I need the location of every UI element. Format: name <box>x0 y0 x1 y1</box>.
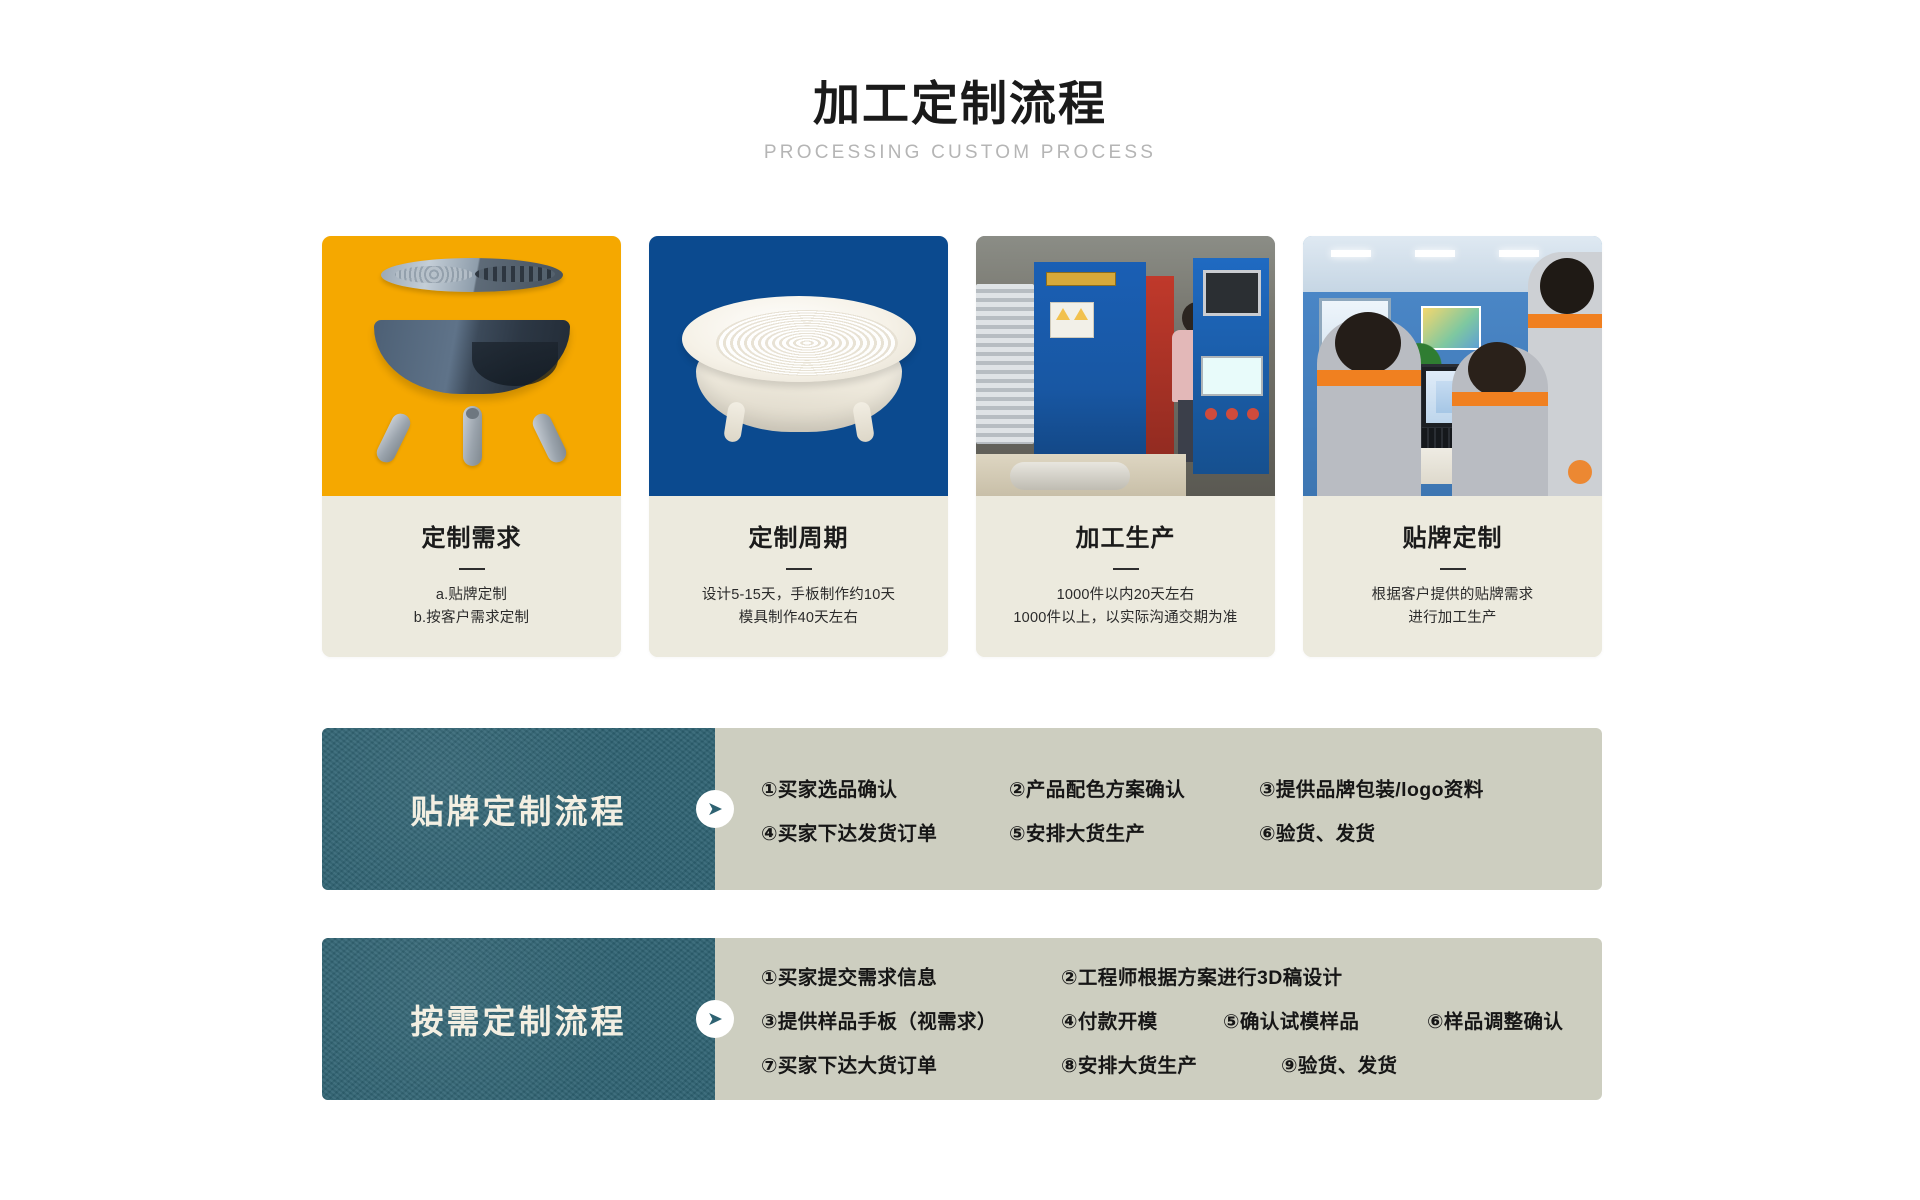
process-page: 加工定制流程 PROCESSING CUSTOM PROCESS 定制需求 a.… <box>0 0 1920 1200</box>
seated-designer-left <box>1317 318 1421 496</box>
oem-flow-header[interactable]: 贴牌定制流程 ➤ <box>322 728 715 890</box>
flow-step: ⑥验货、发货 <box>1259 817 1375 846</box>
process-card-3-desc-line1: 1000件以内20天左右 <box>986 584 1265 607</box>
ceiling-light <box>1415 250 1455 257</box>
page-header: 加工定制流程 PROCESSING CUSTOM PROCESS <box>0 78 1920 164</box>
design-office-team-photo <box>1303 236 1602 496</box>
page-subtitle: PROCESSING CUSTOM PROCESS <box>0 142 1920 164</box>
flow-step: ①买家选品确认 <box>761 773 1009 802</box>
flow-step: ⑤安排大货生产 <box>1009 817 1259 846</box>
divider-rule <box>1113 568 1139 570</box>
ondemand-flow-steps: ①买家提交需求信息 ②工程师根据方案进行3D稿设计 ③提供样品手板（视需求） ④… <box>715 938 1602 1100</box>
step-row: ③提供样品手板（视需求） ④付款开模 ⑤确认试模样品 ⑥样品调整确认 <box>761 997 1602 1041</box>
designer-collar <box>1452 392 1548 406</box>
product-bowl-part <box>374 320 570 394</box>
oem-flow-steps: ①买家选品确认 ②产品配色方案确认 ③提供品牌包装/logo资料 ④买家下达发货… <box>715 728 1602 890</box>
process-card-3[interactable]: 加工生产 1000件以内20天左右 1000件以上，以实际沟通交期为准 <box>976 236 1275 657</box>
flow-step: ②产品配色方案确认 <box>1009 773 1259 802</box>
flow-step: ⑥样品调整确认 <box>1427 1005 1563 1034</box>
machine-brand-label <box>1046 272 1116 286</box>
seated-designer-right <box>1452 346 1548 496</box>
process-card-4-desc-line2: 进行加工生产 <box>1313 607 1592 630</box>
process-card-2[interactable]: 定制周期 设计5-15天，手板制作约10天 模具制作40天左右 <box>649 236 948 657</box>
step-row: ④买家下达发货订单 ⑤安排大货生产 ⑥验货、发货 <box>761 809 1602 853</box>
process-card-1[interactable]: 定制需求 a.贴牌定制 b.按客户需求定制 <box>322 236 621 657</box>
process-card-4-body: 贴牌定制 根据客户提供的贴牌需求 进行加工生产 <box>1303 496 1602 657</box>
control-buttons <box>1205 408 1259 422</box>
prototype-object <box>674 290 924 440</box>
flow-step: ①买家提交需求信息 <box>761 961 1061 990</box>
divider-rule <box>1440 568 1466 570</box>
designer-collar <box>1317 370 1421 386</box>
step-row: ①买家选品确认 ②产品配色方案确认 ③提供品牌包装/logo资料 <box>761 765 1602 809</box>
ondemand-flow-header[interactable]: 按需定制流程 ➤ <box>322 938 715 1100</box>
process-card-4-title: 贴牌定制 <box>1313 518 1592 553</box>
process-card-3-title: 加工生产 <box>986 518 1265 553</box>
injection-machine <box>1034 262 1146 474</box>
molded-part <box>1010 462 1130 490</box>
process-card-1-body: 定制需求 a.贴牌定制 b.按客户需求定制 <box>322 496 621 657</box>
prototype-maze-pattern <box>716 310 898 376</box>
process-cards: 定制需求 a.贴牌定制 b.按客户需求定制 定制周期 <box>322 236 1602 657</box>
product-lid-part <box>381 258 563 292</box>
ondemand-flow-banner: 按需定制流程 ➤ ①买家提交需求信息 ②工程师根据方案进行3D稿设计 ③提供样品… <box>322 938 1602 1100</box>
product-leg-part <box>463 406 482 466</box>
chevron-right-icon: ➤ <box>696 790 734 828</box>
warning-sign-icon <box>1050 302 1094 338</box>
process-card-1-title: 定制需求 <box>332 518 611 553</box>
flow-step: ⑨验货、发货 <box>1281 1049 1485 1078</box>
process-card-4[interactable]: 贴牌定制 根据客户提供的贴牌需求 进行加工生产 <box>1303 236 1602 657</box>
flow-step: ③提供样品手板（视需求） <box>761 1005 1061 1034</box>
flow-step: ④买家下达发货订单 <box>761 817 1009 846</box>
process-card-2-body: 定制周期 设计5-15天，手板制作约10天 模具制作40天左右 <box>649 496 948 657</box>
flow-step: ⑦买家下达大货订单 <box>761 1049 1061 1078</box>
process-card-2-desc-line1: 设计5-15天，手板制作约10天 <box>659 584 938 607</box>
divider-rule <box>786 568 812 570</box>
product-leg-part <box>374 410 414 465</box>
process-card-1-desc-line1: a.贴牌定制 <box>332 584 611 607</box>
process-card-2-title: 定制周期 <box>659 518 938 553</box>
designer-head <box>1468 342 1526 396</box>
process-card-4-desc-line1: 根据客户提供的贴牌需求 <box>1313 584 1592 607</box>
designer-head <box>1335 312 1401 374</box>
colleague-collar <box>1528 314 1602 328</box>
white-prototype-sample-image <box>649 236 948 496</box>
step-row: ⑦买家下达大货订单 ⑧安排大货生产 ⑨验货、发货 <box>761 1041 1602 1085</box>
ondemand-flow-title: 按需定制流程 <box>411 995 627 1043</box>
watermark-logo-icon <box>1568 460 1592 484</box>
process-card-1-desc-line2: b.按客户需求定制 <box>332 607 611 630</box>
divider-rule <box>459 568 485 570</box>
machine-red-column <box>1146 276 1174 472</box>
control-display <box>1201 356 1263 396</box>
control-screen <box>1203 270 1261 316</box>
ceiling-light <box>1499 250 1539 257</box>
step-row: ①买家提交需求信息 ②工程师根据方案进行3D稿设计 <box>761 953 1602 997</box>
flow-step: ⑧安排大货生产 <box>1061 1049 1281 1078</box>
process-card-3-body: 加工生产 1000件以内20天左右 1000件以上，以实际沟通交期为准 <box>976 496 1275 657</box>
process-card-3-desc-line2: 1000件以上，以实际沟通交期为准 <box>986 607 1265 630</box>
process-card-2-desc-line2: 模具制作40天左右 <box>659 607 938 630</box>
stacked-parts <box>976 284 1034 444</box>
page-title: 加工定制流程 <box>0 78 1920 130</box>
prototype-top <box>682 296 916 382</box>
exploded-product-render-image <box>322 236 621 496</box>
factory-injection-machine-photo <box>976 236 1275 496</box>
product-leg-part <box>530 410 570 465</box>
flow-step: ③提供品牌包装/logo资料 <box>1259 773 1484 802</box>
oem-flow-title: 贴牌定制流程 <box>411 785 627 833</box>
colleague-head <box>1540 258 1594 314</box>
flow-step: ④付款开模 <box>1061 1005 1223 1034</box>
oem-flow-banner: 贴牌定制流程 ➤ ①买家选品确认 ②产品配色方案确认 ③提供品牌包装/logo资… <box>322 728 1602 890</box>
flow-step: ②工程师根据方案进行3D稿设计 <box>1061 961 1223 990</box>
chevron-right-icon: ➤ <box>696 1000 734 1038</box>
ceiling-light <box>1331 250 1371 257</box>
flow-step: ⑤确认试模样品 <box>1223 1005 1427 1034</box>
